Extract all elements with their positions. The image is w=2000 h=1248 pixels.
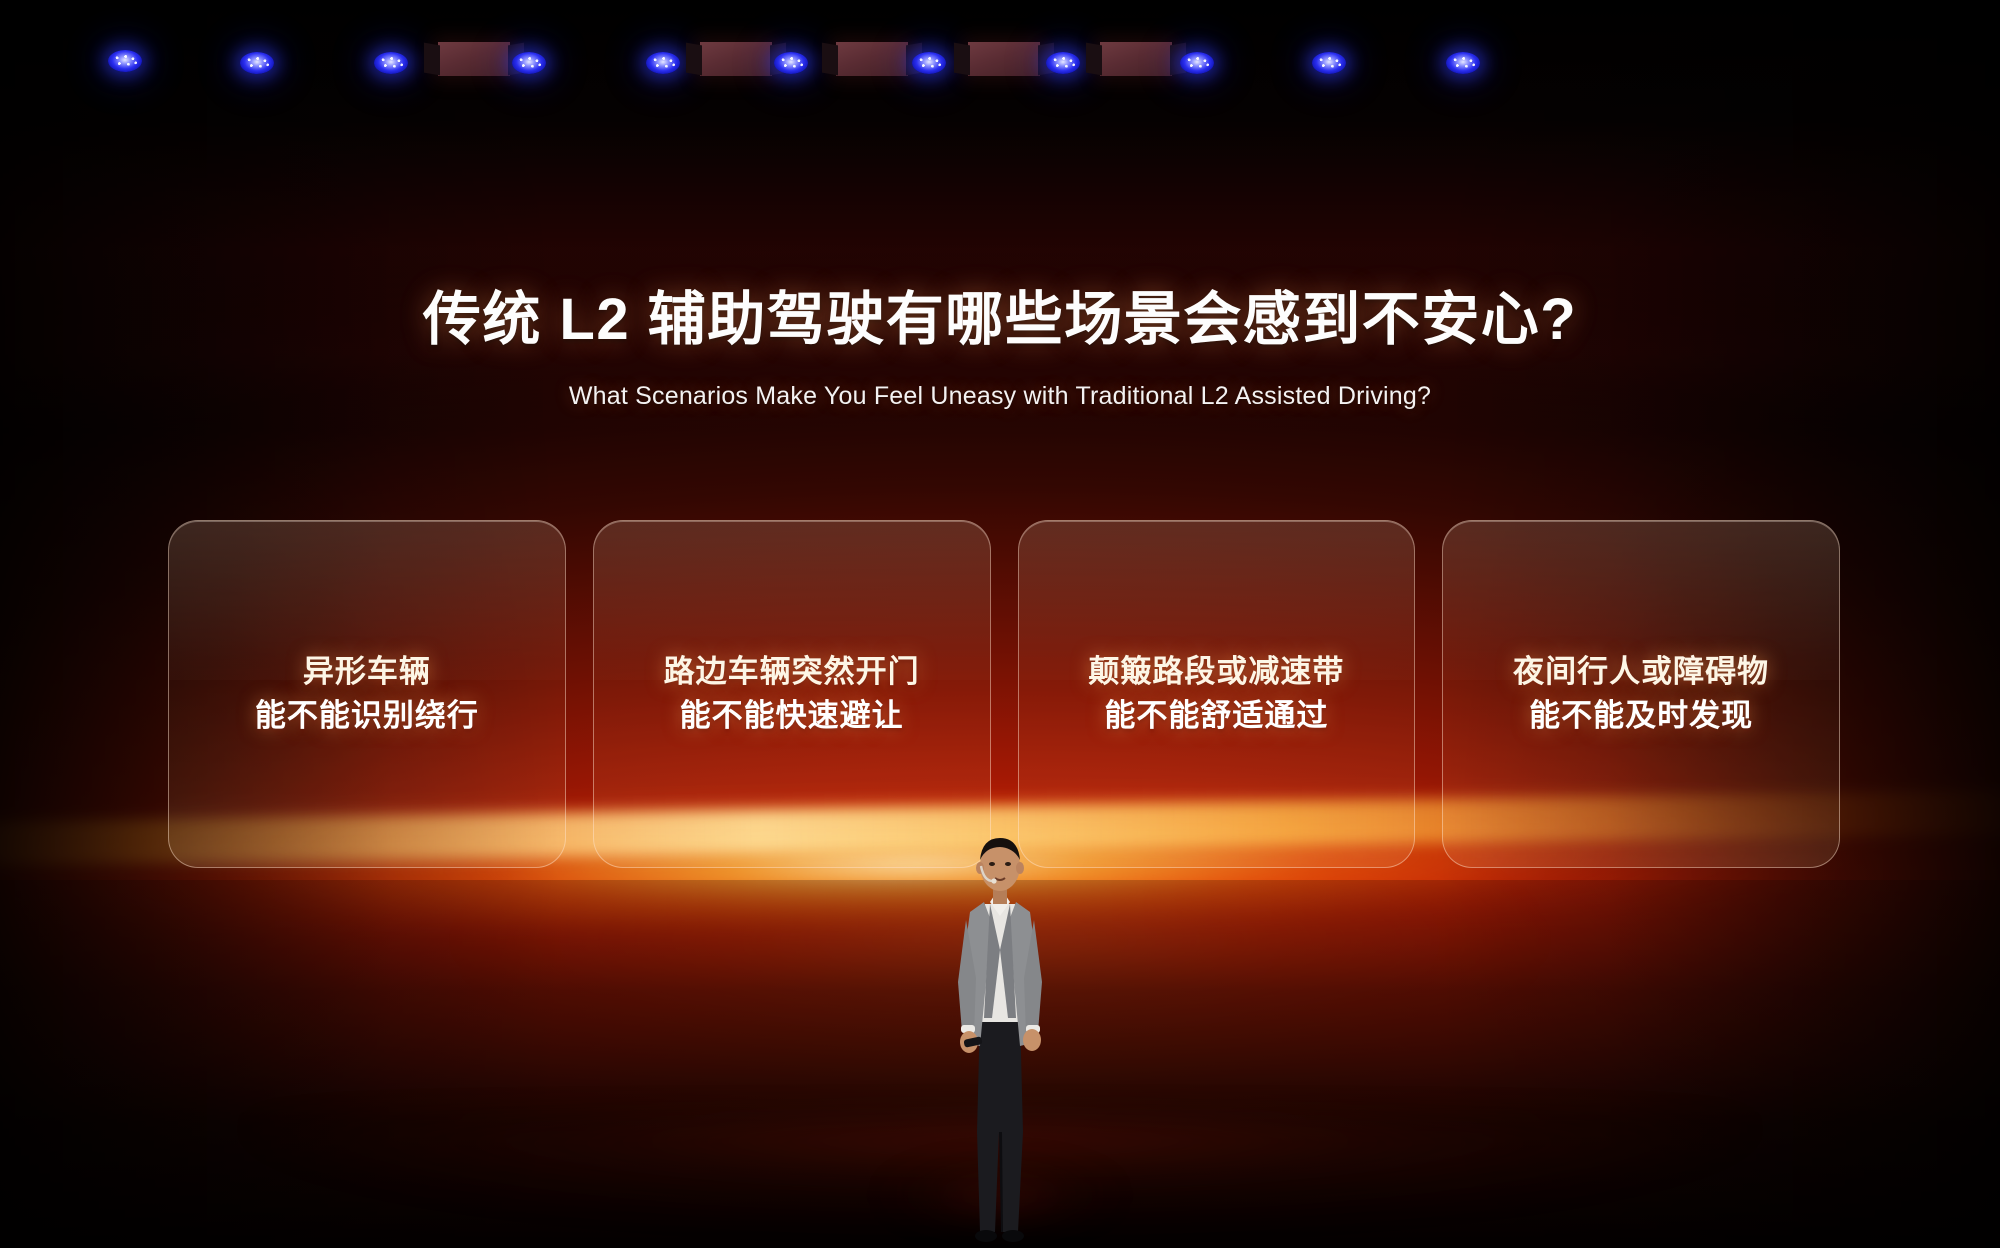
led-light-icon bbox=[374, 52, 408, 74]
scenario-card-line-1: 夜间行人或障碍物 bbox=[1513, 650, 1769, 694]
scenario-card: 路边车辆突然开门能不能快速避让 bbox=[593, 520, 991, 868]
led-light-icon bbox=[1180, 52, 1214, 74]
scenario-card-line-2: 能不能识别绕行 bbox=[255, 694, 479, 738]
presenter-figure bbox=[940, 832, 1060, 1248]
led-light-icon bbox=[1446, 52, 1480, 74]
led-light-icon bbox=[1046, 52, 1080, 74]
led-light-icon bbox=[912, 52, 946, 74]
scenario-card-line-2: 能不能及时发现 bbox=[1529, 694, 1753, 738]
led-light-icon bbox=[774, 52, 808, 74]
led-light-icon bbox=[646, 52, 680, 74]
slide-title-block: 传统 L2 辅助驾驶有哪些场景会感到不安心? What Scenarios Ma… bbox=[0, 288, 2000, 411]
panel-light-icon bbox=[700, 42, 772, 76]
scenario-card-line-2: 能不能快速避让 bbox=[680, 694, 904, 738]
led-light-icon bbox=[512, 52, 546, 74]
scenario-card-line-1: 颠簸路段或减速带 bbox=[1088, 650, 1344, 694]
panel-light-icon bbox=[1100, 42, 1172, 76]
panel-light-icon bbox=[836, 42, 908, 76]
panel-light-icon bbox=[968, 42, 1040, 76]
panel-light-icon bbox=[438, 42, 510, 76]
led-light-icon bbox=[240, 52, 274, 74]
slide-subtitle-english: What Scenarios Make You Feel Uneasy with… bbox=[0, 382, 2000, 411]
overhead-lighting-rig bbox=[0, 0, 2000, 130]
slide-title-chinese: 传统 L2 辅助驾驶有哪些场景会感到不安心? bbox=[0, 288, 2000, 352]
led-light-icon bbox=[108, 50, 142, 72]
scenario-card: 颠簸路段或减速带能不能舒适通过 bbox=[1018, 520, 1416, 868]
scenario-card: 夜间行人或障碍物能不能及时发现 bbox=[1442, 520, 1840, 868]
scenario-card-line-1: 异形车辆 bbox=[303, 650, 431, 694]
scenario-card-line-2: 能不能舒适通过 bbox=[1104, 694, 1328, 738]
presentation-stage-screenshot: 传统 L2 辅助驾驶有哪些场景会感到不安心? What Scenarios Ma… bbox=[0, 0, 2000, 1248]
led-light-icon bbox=[1312, 52, 1346, 74]
scenario-card-line-1: 路边车辆突然开门 bbox=[664, 650, 920, 694]
scenario-card: 异形车辆能不能识别绕行 bbox=[168, 520, 566, 868]
scenario-card-row: 异形车辆能不能识别绕行路边车辆突然开门能不能快速避让颠簸路段或减速带能不能舒适通… bbox=[168, 520, 1840, 868]
